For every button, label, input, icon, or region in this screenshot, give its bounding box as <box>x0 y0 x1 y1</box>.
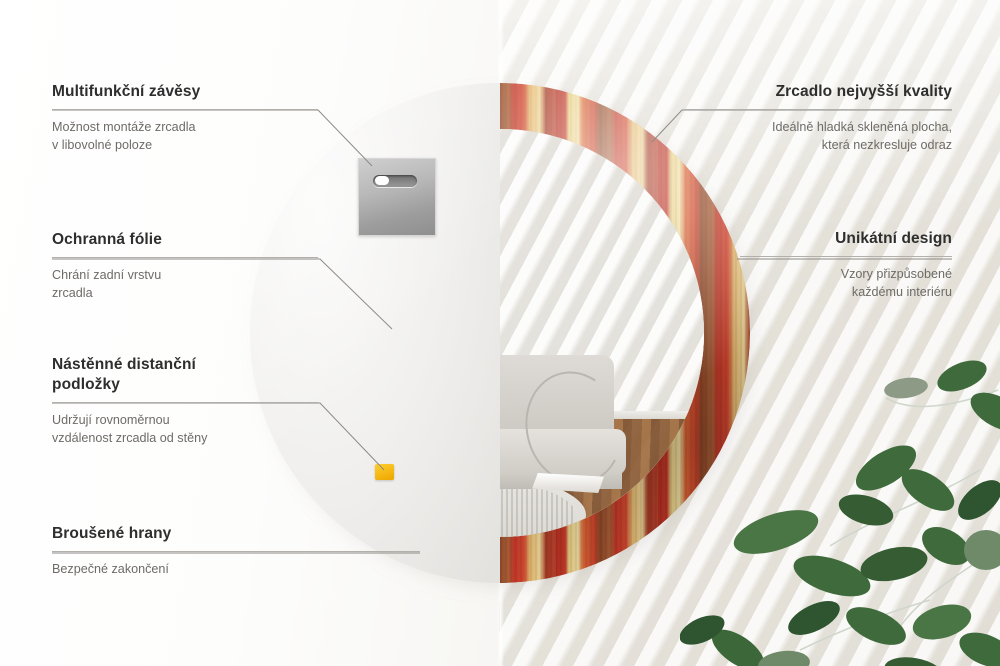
callout-description: Bezpečné zakončení <box>52 561 420 579</box>
callout-title-line: Nástěnné distanční <box>52 355 318 375</box>
callout-unikatni-design: Unikátní design Vzory přizpůsobené každé… <box>740 229 952 302</box>
callout-title: Unikátní design <box>740 229 952 249</box>
callout-description: Chrání zadní vrstvu zrcadla <box>52 267 318 303</box>
callout-rule <box>684 109 952 110</box>
callout-title: Multifunkční závěsy <box>52 82 318 102</box>
callout-brousene-hrany: Broušené hrany Bezpečné zakončení <box>52 524 420 579</box>
callout-desc-line: která nezkresluje odraz <box>684 137 952 155</box>
callout-multifunkcni-zavesy: Multifunkční závěsy Možnost montáže zrca… <box>52 82 318 155</box>
callout-desc-line: Vzory přizpůsobené <box>740 266 952 284</box>
callout-desc-line: vzdálenost zrcadla od stěny <box>52 430 318 448</box>
mirror-body <box>250 83 750 583</box>
callout-desc-line: Udržují rovnoměrnou <box>52 412 318 430</box>
callout-desc-line: Ideálně hladká skleněná plocha, <box>684 119 952 137</box>
callout-desc-line: Chrání zadní vrstvu <box>52 267 318 285</box>
callout-title: Broušené hrany <box>52 524 420 544</box>
callout-desc-line: Možnost montáže zrcadla <box>52 119 318 137</box>
callout-title-line: podložky <box>52 375 318 395</box>
product-mirror <box>250 83 750 583</box>
callout-nastenne-distancni-podlozky: Nástěnné distanční podložky Udržují rovn… <box>52 355 318 447</box>
callout-rule <box>52 402 318 403</box>
callout-ochranna-folie: Ochranná fólie Chrání zadní vrstvu zrcad… <box>52 230 318 303</box>
hanging-bracket <box>358 158 436 236</box>
foreground-plant <box>680 350 1000 666</box>
callout-rule <box>52 551 420 552</box>
callout-rule <box>740 256 952 257</box>
callout-desc-line: v libovolné poloze <box>52 137 318 155</box>
callout-description: Vzory přizpůsobené každému interiéru <box>740 266 952 302</box>
callout-rule <box>52 109 318 110</box>
callout-title: Ochranná fólie <box>52 230 318 250</box>
callout-desc-line: zrcadla <box>52 285 318 303</box>
callout-description: Udržují rovnoměrnou vzdálenost zrcadla o… <box>52 412 318 448</box>
spacer-pad <box>375 464 394 480</box>
mirror-glass <box>500 129 704 537</box>
callout-zrcadlo-nejvyssi-kvality: Zrcadlo nejvyšší kvality Ideálně hladká … <box>684 82 952 155</box>
callout-desc-line: Bezpečné zakončení <box>52 561 420 579</box>
callout-description: Ideálně hladká skleněná plocha, která ne… <box>684 119 952 155</box>
callout-title: Nástěnné distanční podložky <box>52 355 318 395</box>
callout-description: Možnost montáže zrcadla v libovolné polo… <box>52 119 318 155</box>
callout-title: Zrcadlo nejvyšší kvality <box>684 82 952 102</box>
callout-rule <box>52 257 318 258</box>
callout-desc-line: každému interiéru <box>740 284 952 302</box>
infographic-canvas: Multifunkční závěsy Možnost montáže zrca… <box>0 0 1000 666</box>
bracket-keyhole-slot <box>373 175 417 187</box>
